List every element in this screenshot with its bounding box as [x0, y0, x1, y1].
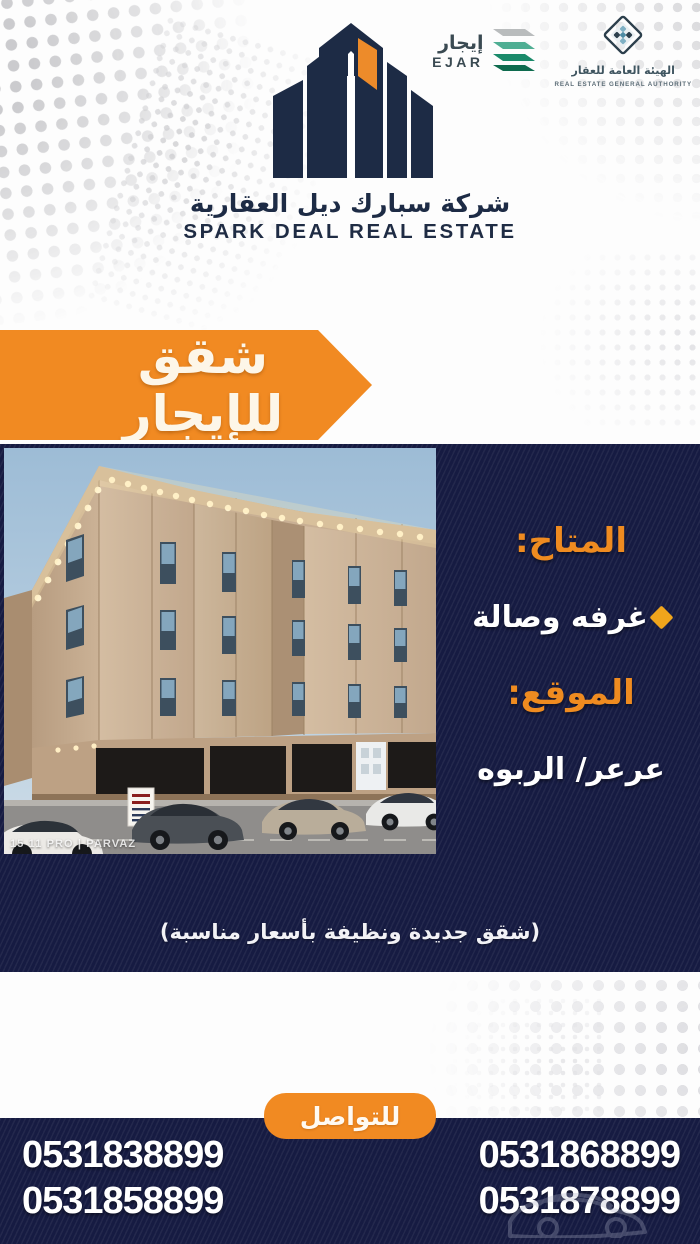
phone-number-1[interactable]: 0531838899 — [14, 1134, 350, 1178]
halftone-pattern-footer-right-fine — [425, 995, 605, 1135]
available-value-row: غرفه وصالة — [472, 595, 670, 640]
poster-canvas: إيجار EJAR — [0, 0, 700, 1244]
brand-name-ar: شركة سبارك ديل العقارية — [190, 189, 510, 218]
phone-number-2[interactable]: 0531858899 — [14, 1180, 350, 1224]
building-photo: 15 11 PRO | PARVAZ — [4, 448, 436, 854]
location-label: الموقع: — [507, 668, 635, 719]
brand-name-en: SPARK DEAL REAL ESTATE — [183, 220, 516, 244]
photo-watermark: 15 11 PRO | PARVAZ — [10, 838, 136, 850]
available-label: المتاح: — [515, 516, 627, 567]
listing-caption: (شقق جديدة ونظيفة بأسعار مناسبة) — [0, 920, 700, 944]
contact-badge[interactable]: للتواصل — [264, 1093, 436, 1139]
banner-title: شقق للإيجار — [0, 327, 352, 443]
poster-header: إيجار EJAR — [0, 0, 700, 265]
listing-details: المتاح: غرفه وصالة الموقع: عرعر/ الربوه — [442, 454, 700, 854]
phone-number-4[interactable]: 0531878899 — [350, 1180, 686, 1224]
available-value: غرفه وصالة — [472, 595, 648, 640]
phone-number-3[interactable]: 0531868899 — [350, 1134, 686, 1178]
listing-card: 15 11 PRO | PARVAZ المتاح: غرفه وصالة ال… — [0, 444, 700, 972]
brand-block: شركة سبارك ديل العقارية SPARK DEAL REAL … — [0, 18, 700, 244]
building-logo-icon — [255, 18, 445, 183]
diamond-bullet-icon — [649, 605, 673, 629]
halftone-pattern-mid-right — [490, 250, 700, 430]
apartments-for-rent-banner: شقق للإيجار — [0, 330, 372, 440]
location-value: عرعر/ الربوه — [477, 747, 665, 792]
